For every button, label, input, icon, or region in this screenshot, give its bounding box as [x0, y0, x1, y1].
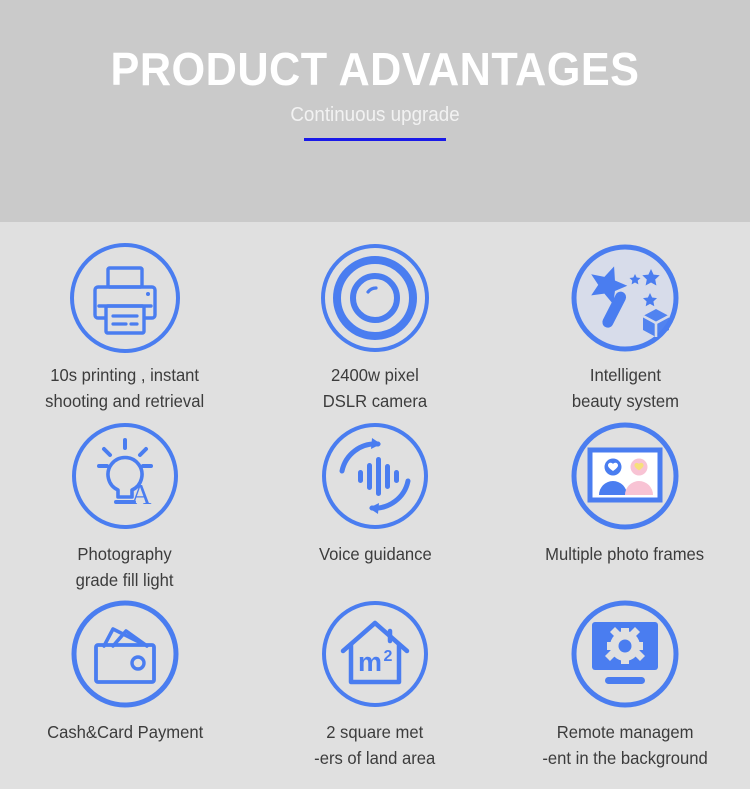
page-title: PRODUCT ADVANTAGES: [23, 46, 728, 92]
feature-item-camera[interactable]: 2400w pixel DSLR camera: [250, 222, 500, 400]
house-square-meter-icon: m 2: [318, 597, 432, 711]
page-header: PRODUCT ADVANTAGES Continuous upgrade: [0, 0, 750, 222]
feature-item-photo-frames[interactable]: Multiple photo frames: [500, 400, 750, 578]
title-underline-divider: [304, 138, 446, 141]
voice-waveform-loop-icon: [318, 419, 432, 533]
magic-wand-icon: [568, 241, 682, 355]
feature-item-land-area[interactable]: m 2 2 square met -ers of land area: [250, 578, 500, 768]
svg-text:2: 2: [384, 648, 393, 665]
feature-item-beauty[interactable]: Intelligent beauty system: [500, 222, 750, 400]
feature-label: Cash&Card Payment: [47, 719, 203, 745]
feature-item-payment[interactable]: Cash&Card Payment: [0, 578, 250, 768]
feature-label: Remote managem -ent in the background: [542, 719, 707, 772]
page-subtitle: Continuous upgrade: [23, 103, 728, 127]
wallet-icon: [68, 597, 182, 711]
feature-row: 10s printing , instant shooting and retr…: [0, 222, 750, 400]
svg-text:A: A: [131, 479, 152, 511]
feature-item-remote-management[interactable]: Remote managem -ent in the background: [500, 578, 750, 768]
product-advantages-page: PRODUCT ADVANTAGES Continuous upgrade: [0, 0, 750, 789]
feature-item-printing[interactable]: 10s printing , instant shooting and retr…: [0, 222, 250, 400]
printer-icon: [68, 241, 182, 355]
monitor-gear-icon: [568, 597, 682, 711]
feature-item-fill-light[interactable]: A Photography grade fill light: [0, 400, 250, 578]
feature-label: Voice guidance: [319, 541, 432, 567]
feature-item-voice[interactable]: Voice guidance: [250, 400, 500, 578]
feature-grid: 10s printing , instant shooting and retr…: [0, 222, 750, 789]
svg-text:m: m: [358, 647, 382, 677]
feature-label: 2 square met -ers of land area: [314, 719, 435, 772]
photo-frame-people-icon: [568, 419, 682, 533]
feature-row: Cash&Card Payment m 2 2 square met -ers …: [0, 578, 750, 768]
camera-lens-icon: [318, 241, 432, 355]
feature-row: A Photography grade fill light: [0, 400, 750, 578]
feature-label: Multiple photo frames: [546, 541, 705, 567]
light-bulb-auto-icon: A: [68, 419, 182, 533]
